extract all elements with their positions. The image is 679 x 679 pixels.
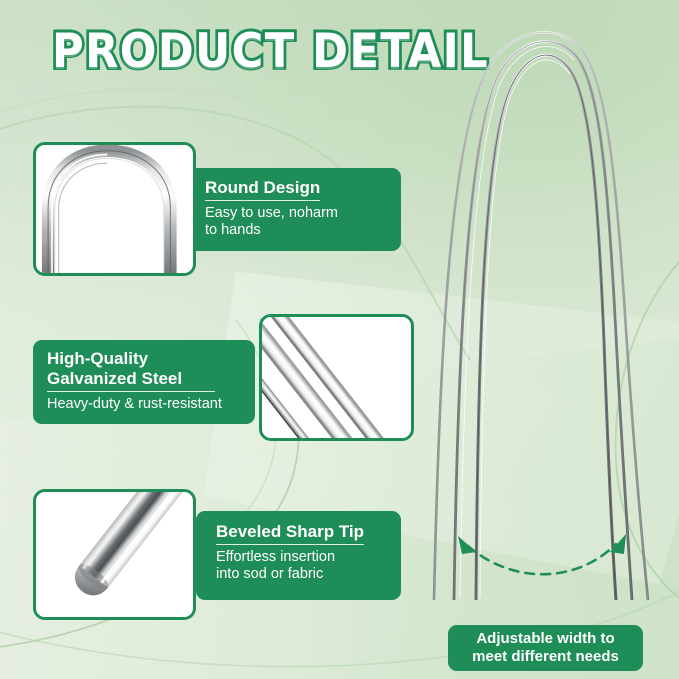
callout-adjustable-width-text: Adjustable width to meet different needs — [472, 630, 619, 666]
round-arch-illustration — [36, 145, 193, 273]
callout-round-design-heading: Round Design — [205, 178, 320, 201]
callout-round-design-subtext: Easy to use, noharm to hands — [205, 205, 401, 239]
photo-beveled-sharp-tip — [33, 489, 196, 620]
callout-adjustable-width: Adjustable width to meet different needs — [448, 625, 643, 671]
callout-beveled-sharp-tip: Beveled Sharp Tip Effortless insertion i… — [196, 511, 401, 600]
adjustable-width-arrow — [420, 520, 679, 630]
callout-beveled-sharp-tip-subtext: Effortless insertion into sod or fabric — [216, 549, 401, 583]
callout-galvanized-steel-heading: High-Quality Galvanized Steel — [47, 349, 215, 392]
product-image-stakes — [420, 0, 679, 610]
photo-round-design — [33, 142, 196, 276]
product-detail-poster: PRODUCT DETAIL Round Design Easy to use — [0, 0, 679, 679]
photo-galvanized-steel — [259, 314, 414, 441]
callout-galvanized-steel-subtext: Heavy-duty & rust-resistant — [47, 396, 255, 413]
callout-beveled-sharp-tip-heading: Beveled Sharp Tip — [216, 522, 364, 545]
callout-galvanized-steel: High-Quality Galvanized Steel Heavy-duty… — [33, 340, 255, 424]
beveled-tip-illustration — [36, 492, 193, 617]
steel-rods-illustration — [262, 317, 411, 438]
callout-round-design: Round Design Easy to use, noharm to hand… — [184, 168, 401, 251]
